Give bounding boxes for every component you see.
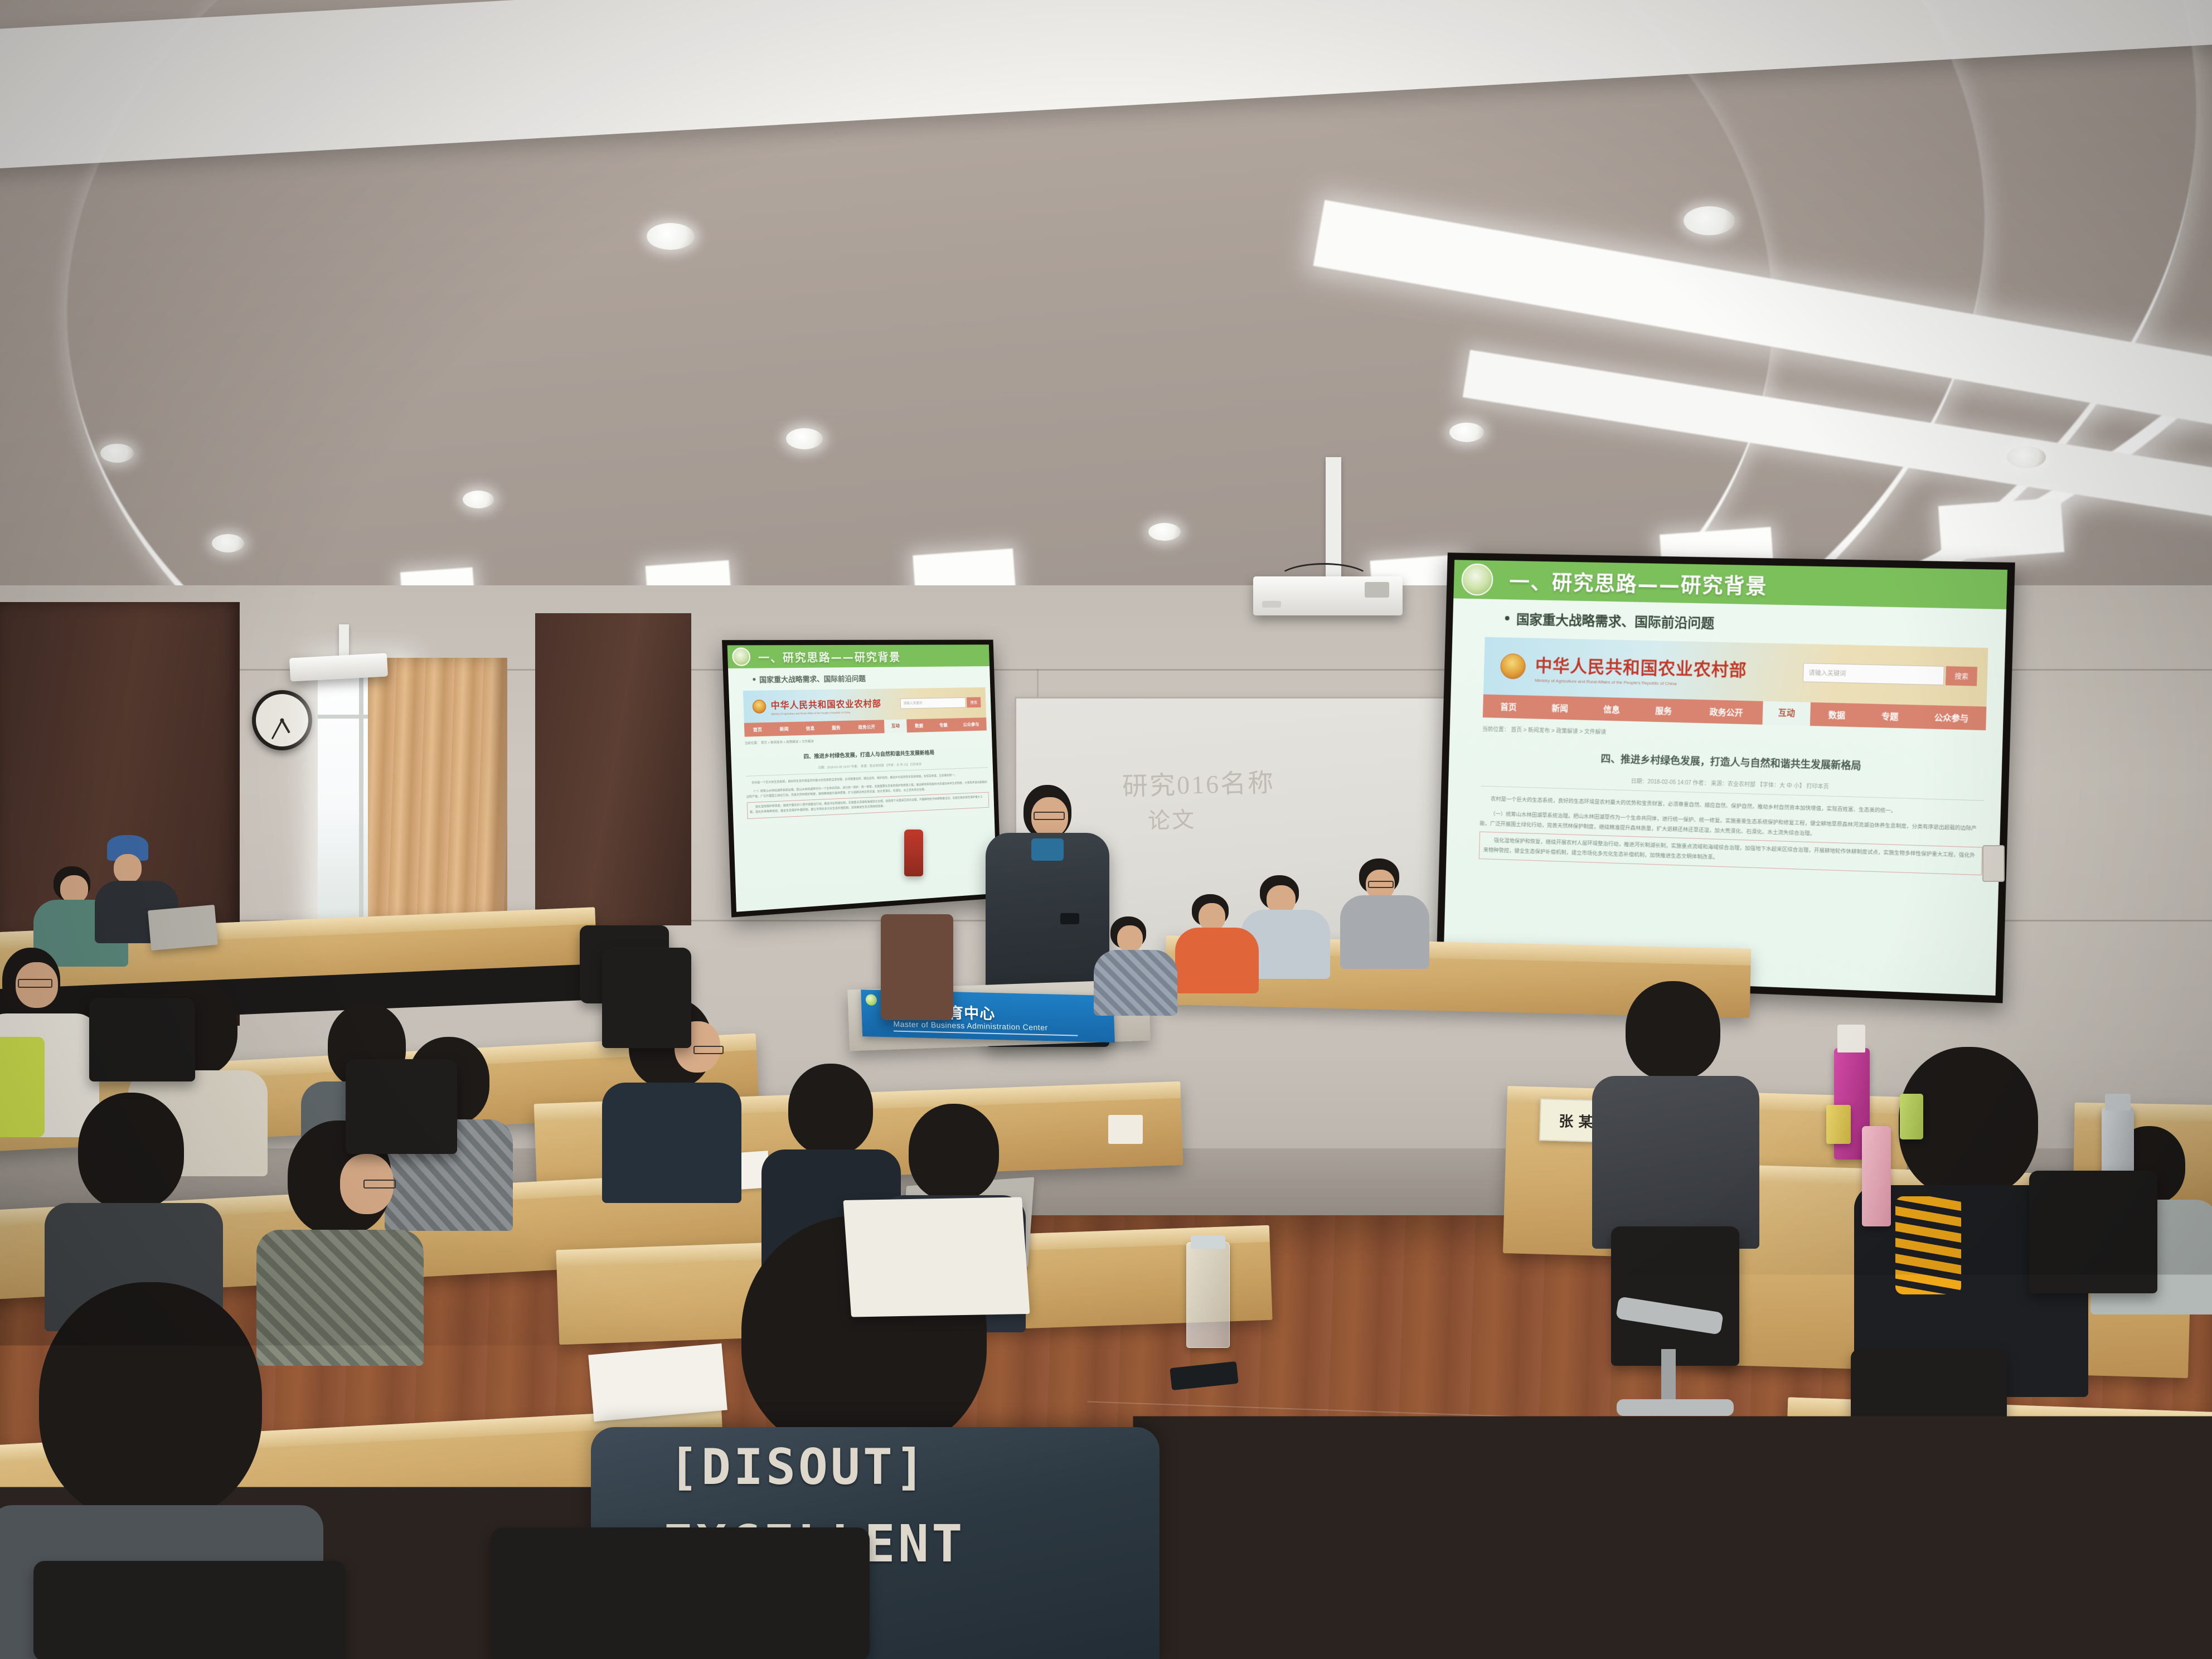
recessed-downlight: [212, 534, 244, 552]
gov-site-banner: 中华人民共和国农业农村部 Ministry of Agriculture and…: [1483, 637, 1988, 707]
glasses-icon: [1368, 881, 1394, 888]
main-projection-screen: 一、研究思路——研究背景 国家重大战略需求、国际前沿问题 中华人民共和国农业农村…: [1436, 552, 2015, 1003]
recessed-downlight: [2007, 446, 2046, 468]
gov-nav-item[interactable]: 新闻: [1534, 701, 1586, 714]
recessed-downlight: [100, 444, 134, 463]
slide-bullet: 国家重大战略需求、国际前沿问题: [1505, 608, 1989, 638]
gov-search-button[interactable]: 搜索: [967, 697, 981, 707]
gov-nav-item[interactable]: 数据: [1810, 708, 1864, 721]
presentation-clicker: [1060, 913, 1079, 924]
wall-switch[interactable]: [1982, 845, 2005, 882]
projector-mount-pole: [1326, 457, 1341, 580]
open-laptop: [843, 1197, 1030, 1317]
red-thermos: [904, 829, 923, 876]
paper-cup: [1108, 1115, 1143, 1144]
recessed-downlight: [647, 223, 695, 250]
gov-nav-item[interactable]: 数据: [906, 722, 931, 729]
audience-member: [1094, 910, 1177, 1008]
gov-site-name-cn: 中华人民共和国农业农村部: [1535, 651, 1747, 681]
whiteboard-ghost-text: 研究016名称: [1122, 762, 1275, 803]
open-laptop: [148, 905, 218, 950]
audience-member: [1340, 858, 1429, 964]
square-ceiling-light: [1938, 497, 2064, 560]
lecture-hall-photo: 研究016名称 论文 一、研究思路——研究背景 国家重大战略需求、国际前沿问题: [0, 0, 2212, 1659]
whiteboard-ghost-text: 论文: [1147, 802, 1196, 835]
slide-bullet-text: 国家重大战略需求、国际前沿问题: [1516, 608, 1715, 632]
slide-bullet-text: 国家重大战略需求、国际前沿问题: [759, 673, 866, 685]
gov-site-banner: 中华人民共和国农业农村部 Ministry of Agriculture and…: [743, 687, 986, 723]
gov-nav-item[interactable]: 信息: [1585, 702, 1638, 715]
slide-body: 国家重大战略需求、国际前沿问题 中华人民共和国农业农村部 Ministry of…: [1443, 598, 2006, 996]
wall-clock: [252, 690, 312, 750]
recessed-downlight: [786, 428, 823, 449]
recessed-downlight: [463, 491, 494, 508]
slide-bullet: 国家重大战略需求、国际前沿问题: [753, 672, 986, 685]
secondary-projection-screen: 一、研究思路——研究背景 国家重大战略需求、国际前沿问题 中华人民共和国农业农村…: [722, 640, 1001, 918]
gov-article-title: 四、推进乡村绿色发展，打造人与自然和谐共生发展新格局: [1481, 748, 1985, 776]
national-emblem-icon: [752, 700, 766, 714]
window-curtain: [368, 658, 507, 937]
office-chair[interactable]: [346, 1059, 457, 1154]
jacket-text-line-1: [DISOUT]: [669, 1438, 928, 1496]
gov-nav-item[interactable]: 首页: [1483, 700, 1535, 713]
gov-nav-item[interactable]: 新闻: [771, 725, 798, 732]
gov-site-name-en: Ministry of Agriculture and Rural Affair…: [771, 710, 881, 715]
gov-nav-item[interactable]: 政务公开: [1690, 705, 1763, 719]
glasses-icon: [693, 1046, 724, 1054]
slide-content-secondary: 一、研究思路——研究背景 国家重大战略需求、国际前沿问题 中华人民共和国农业农村…: [727, 644, 997, 911]
gov-nav-item[interactable]: 首页: [744, 726, 771, 733]
recessed-downlight: [1148, 523, 1181, 541]
projector-cable: [1277, 563, 1371, 596]
gov-site-name-cn: 中华人民共和国农业农村部: [770, 696, 881, 711]
ceiling-white-band: [0, 0, 2212, 174]
gov-search-input[interactable]: 请输入关键词: [1803, 663, 1944, 685]
office-chair[interactable]: [1611, 1226, 1739, 1366]
glass-water-bottle: [1186, 1242, 1230, 1348]
panel-member: [1592, 981, 1759, 1243]
gov-nav-item-active[interactable]: 互动: [884, 719, 907, 733]
office-chair[interactable]: [2029, 1171, 2157, 1293]
slide-body: 国家重大战略需求、国际前沿问题 中华人民共和国农业农村部 Ministry of…: [728, 666, 997, 912]
bottle-cap: [1837, 1025, 1865, 1052]
office-chair[interactable]: [491, 1527, 870, 1659]
office-chair[interactable]: [602, 948, 691, 1048]
gov-search-input[interactable]: 请输入关键词: [900, 697, 966, 709]
yellow-bag: [0, 1037, 45, 1137]
gov-nav-item[interactable]: 专题: [931, 722, 955, 729]
audience-member: [1175, 889, 1259, 987]
slide-header-title: 一、研究思路——研究背景: [1509, 565, 1768, 600]
yellow-jar: [1826, 1105, 1851, 1144]
wooden-chair[interactable]: [881, 914, 953, 1020]
gov-nav-item[interactable]: 公众参与: [1917, 711, 1986, 724]
gov-nav-item-active[interactable]: 互动: [1763, 701, 1811, 726]
green-bottle: [1900, 1094, 1923, 1139]
gov-nav-item[interactable]: 服务: [823, 724, 849, 731]
name-placard-text: 张 某: [1559, 1110, 1593, 1132]
gov-search-button[interactable]: 搜索: [1946, 666, 1977, 686]
office-chair[interactable]: [89, 998, 195, 1081]
bottle-cap: [1191, 1235, 1225, 1249]
gov-breadcrumb: 当前位置： 首页 > 新闻发布 > 政策解读 > 文件解读: [745, 734, 987, 745]
recessed-downlight: [1449, 423, 1484, 442]
presenter-collar: [1031, 838, 1064, 861]
university-logo-icon: [866, 994, 877, 1005]
gov-nav-item[interactable]: 服务: [1637, 704, 1690, 717]
slide-header-title: 一、研究思路——研究背景: [758, 648, 901, 665]
agriculture-university-emblem-icon: [1461, 563, 1493, 595]
bottle-cap: [2105, 1094, 2131, 1110]
agriculture-university-emblem-icon: [732, 648, 751, 666]
glasses-icon: [1034, 812, 1065, 820]
gov-article-meta: 日期：2018-02-05 14:07 作者： 来源：农业农村部 【字体：大 中…: [1481, 772, 1984, 795]
gov-nav-item[interactable]: 公众参与: [955, 721, 987, 727]
office-chair[interactable]: [33, 1561, 346, 1659]
ceiling: [0, 0, 2212, 658]
wood-wall-panel: [535, 613, 691, 925]
gov-nav-item[interactable]: 政务公开: [849, 724, 885, 731]
gov-nav-item[interactable]: 信息: [797, 725, 823, 731]
gov-search-placeholder: 请输入关键词: [1803, 663, 1944, 686]
gov-article-meta: 日期：2018-02-05 14:07 作者： 来源：农业农村部 【字体：大 中…: [745, 760, 988, 773]
glasses-icon: [18, 979, 52, 988]
scarf: [1895, 1196, 1961, 1294]
gov-search-placeholder: 请输入关键词: [901, 698, 966, 710]
national-emblem-icon: [1500, 653, 1526, 680]
recessed-downlight: [1684, 206, 1735, 235]
slide-header: 一、研究思路——研究背景: [727, 644, 989, 668]
gov-nav-item[interactable]: 专题: [1863, 710, 1917, 723]
office-chair[interactable]: [1851, 1349, 2007, 1511]
podium-banner-en: Master of Business Administration Center: [893, 1020, 1048, 1032]
pink-thermos: [1862, 1126, 1891, 1226]
glasses-icon: [363, 1180, 396, 1189]
gov-article-title: 四、推进乡村绿色发展，打造人与自然和谐共生发展新格局: [745, 746, 987, 762]
slide-content: 一、研究思路——研究背景 国家重大战略需求、国际前沿问题 中华人民共和国农业农村…: [1443, 560, 2007, 996]
